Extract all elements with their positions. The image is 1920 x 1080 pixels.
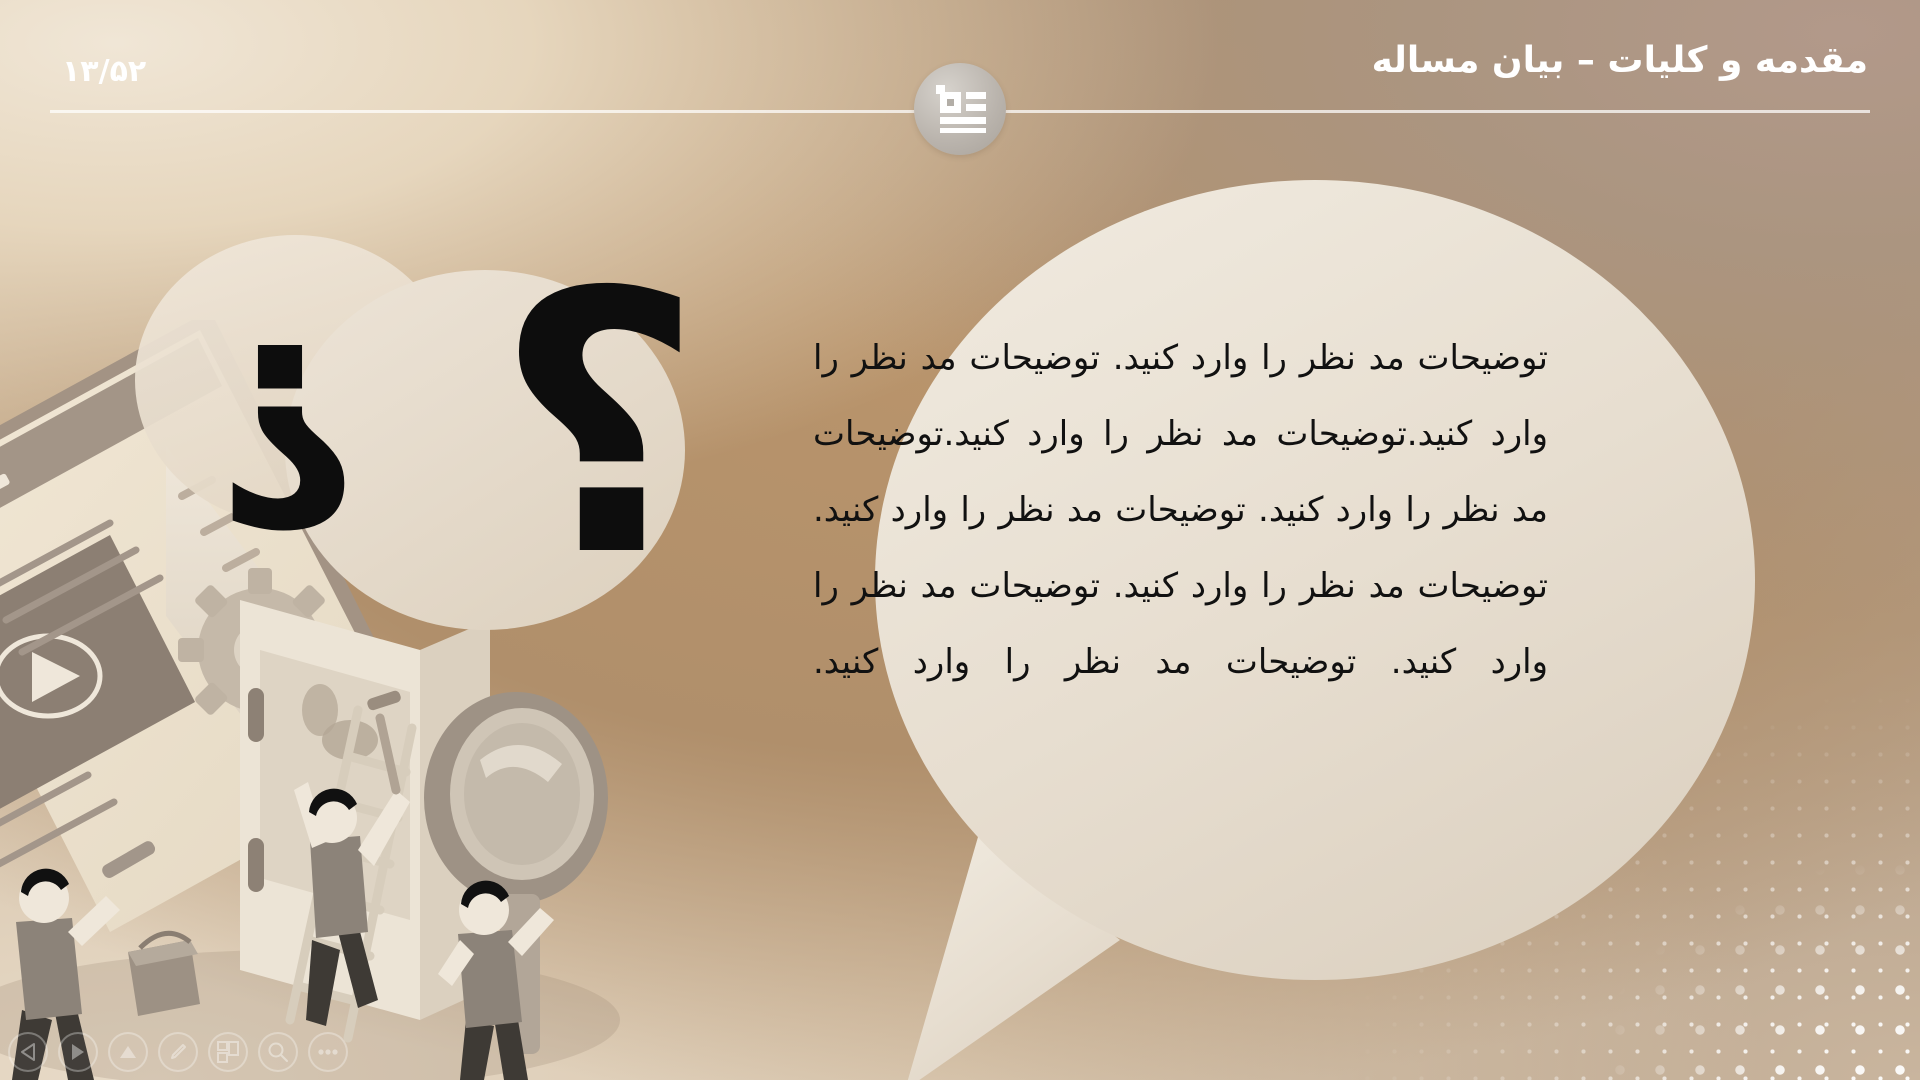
halftone-dot-pattern-large bbox=[1520, 810, 1920, 1080]
zoom-button[interactable] bbox=[258, 1032, 298, 1072]
ellipsis-icon bbox=[317, 1048, 339, 1056]
triangle-left-icon bbox=[20, 1043, 36, 1061]
slide-overview-button[interactable] bbox=[208, 1032, 248, 1072]
triangle-up-icon bbox=[119, 1044, 137, 1060]
presentation-toolbar[interactable] bbox=[8, 1032, 348, 1072]
more-options-button[interactable] bbox=[308, 1032, 348, 1072]
section-badge bbox=[914, 63, 1006, 155]
triangle-right-icon bbox=[70, 1043, 86, 1061]
popup-menu-button[interactable] bbox=[108, 1032, 148, 1072]
previous-slide-button[interactable] bbox=[8, 1032, 48, 1072]
page-title: مقدمه و کلیات – بیان مساله bbox=[1372, 40, 1868, 81]
presentation-slide: ? ? مقدمه و کلیات – بیان مساله ۱۳/۵۲ توض… bbox=[0, 0, 1920, 1080]
article-document-icon bbox=[934, 85, 986, 133]
pen-icon bbox=[168, 1042, 188, 1062]
page-number-indicator: ۱۳/۵۲ bbox=[62, 54, 146, 89]
play-next-slide-button[interactable] bbox=[58, 1032, 98, 1072]
pen-annotation-button[interactable] bbox=[158, 1032, 198, 1072]
magnifier-icon bbox=[267, 1041, 289, 1063]
slide-body-text: توضیحات مد نظر را وارد کنید. توضیحات مد … bbox=[813, 320, 1548, 700]
grid-slides-icon bbox=[217, 1041, 239, 1063]
